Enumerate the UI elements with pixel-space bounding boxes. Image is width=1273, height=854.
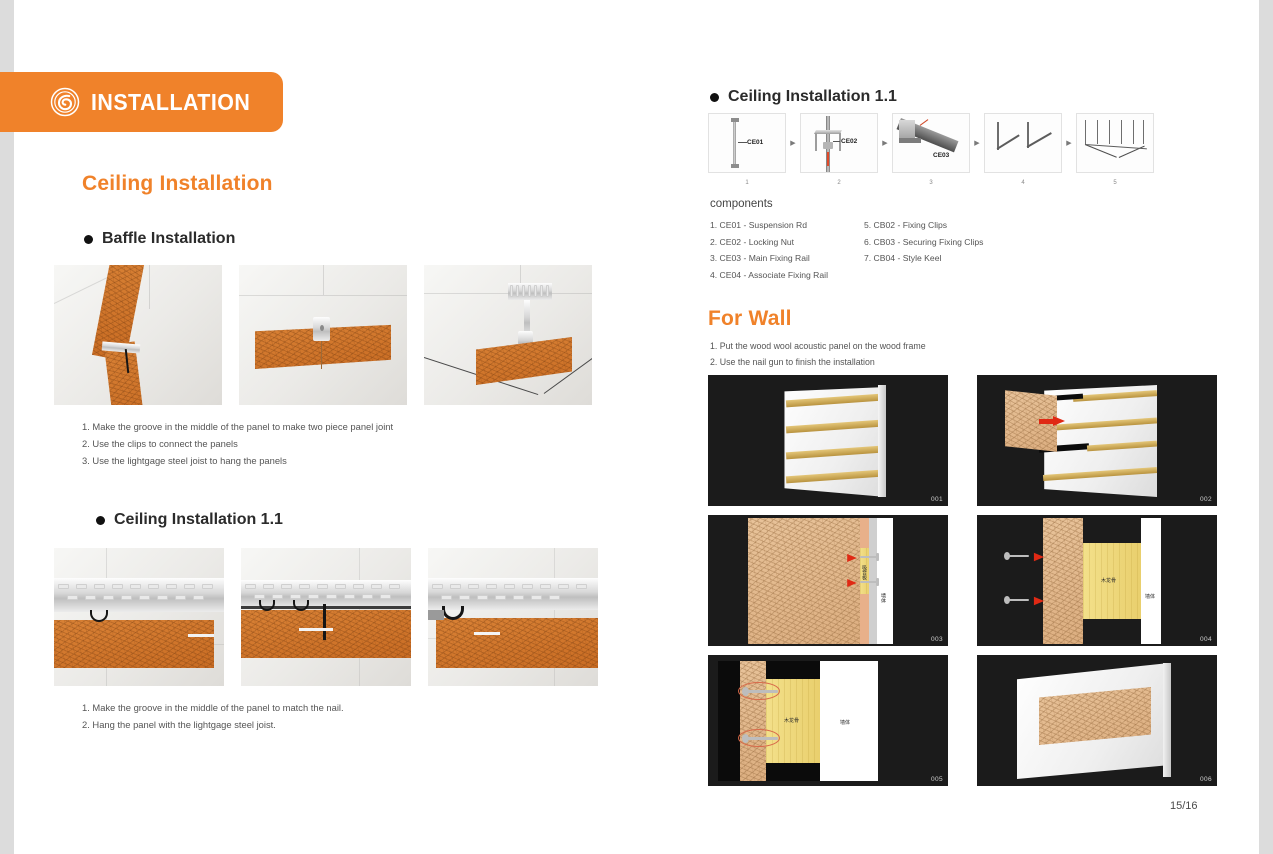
step-label-ce02: CE02 (841, 138, 857, 145)
caption-line: 3. Use the lightgage steel joist to hang… (82, 453, 393, 470)
wall-image-number: 004 (1200, 636, 1212, 643)
caption-line: 2. Hang the panel with the lightgage ste… (82, 717, 344, 734)
step-diagram-3: CE03 (892, 113, 970, 173)
step-arrow-icon: ▶ (970, 113, 984, 173)
wall-image-cn-label: 墙体 (880, 593, 887, 603)
bullet-dot-icon (96, 516, 105, 525)
step-cell-1: CE01 1 (708, 113, 786, 186)
step-diagram-2: CE02 (800, 113, 878, 173)
wall-image-001: 001 (708, 375, 948, 506)
for-wall-steps: 1. Put the wood wool acoustic panel on t… (710, 338, 926, 370)
ceiling-steps-strip: CE01 1 ▶ CE02 2 ▶ (708, 113, 1154, 186)
wall-image-grid: 001 002 (708, 375, 1217, 786)
ceiling-installation-11-heading-left: Ceiling Installation 1.1 (96, 511, 283, 529)
baffle-photo-row (54, 265, 592, 405)
wall-image-cn-label: 墙体 (1145, 593, 1155, 600)
wall-image-005: 木龙骨 墙体 005 (708, 655, 948, 786)
component-item: 3. CE03 - Main Fixing Rail (710, 250, 828, 267)
step-label-ce01: CE01 (747, 139, 763, 146)
wall-image-number: 002 (1200, 496, 1212, 503)
step-number-1: 1 (708, 180, 786, 186)
component-item: 7. CB04 - Style Keel (864, 250, 983, 267)
baffle-captions: 1. Make the groove in the middle of the … (82, 419, 393, 469)
step-number-3: 3 (892, 180, 970, 186)
wall-image-006: 006 (977, 655, 1217, 786)
caption-line: 1. Make the groove in the middle of the … (82, 700, 344, 717)
step-arrow-icon: ▶ (786, 113, 800, 173)
components-title: components (710, 198, 773, 210)
step-number-2: 2 (800, 180, 878, 186)
step-number-4: 4 (984, 180, 1062, 186)
wall-image-number: 006 (1200, 776, 1212, 783)
wall-image-004: 木龙骨 墙体 004 (977, 515, 1217, 646)
bullet-dot-icon (84, 235, 93, 244)
step-diagram-1: CE01 (708, 113, 786, 173)
wall-image-number: 003 (931, 636, 943, 643)
wall-step-line: 1. Put the wood wool acoustic panel on t… (710, 338, 926, 354)
left-column: INSTALLATION Ceiling Installation Baffle… (14, 0, 654, 854)
wall-image-number: 005 (931, 776, 943, 783)
baffle-photo-3 (424, 265, 592, 405)
baffle-photo-2 (239, 265, 407, 405)
step-arrow-icon: ▶ (878, 113, 892, 173)
page-title: Ceiling Installation (82, 172, 273, 196)
for-wall-title: For Wall (708, 307, 792, 331)
wall-image-cn-label: 木龙骨 (1101, 577, 1116, 584)
caption-line: 1. Make the groove in the middle of the … (82, 419, 393, 436)
step-arrow-icon: ▶ (1062, 113, 1076, 173)
step-label-ce03: CE03 (933, 152, 949, 159)
circular-swirl-logo-icon (50, 87, 80, 117)
wall-image-002: 002 (977, 375, 1217, 506)
components-column-left: 1. CE01 - Suspension Rd 2. CE02 - Lockin… (710, 217, 828, 283)
components-column-right: 5. CB02 - Fixing Clips 6. CB03 - Securin… (864, 217, 983, 267)
wall-image-cn-label: 吸音板 (861, 565, 868, 580)
step-diagram-5 (1076, 113, 1154, 173)
bullet-dot-icon (710, 93, 719, 102)
baffle-photo-1 (54, 265, 222, 405)
caption-line: 2. Use the clips to connect the panels (82, 436, 393, 453)
wall-image-cn-label: 墙体 (840, 719, 850, 726)
wall-image-003: 吸音板 墙体 003 (708, 515, 948, 646)
page-number: 15/16 (1170, 800, 1198, 812)
ceiling-installation-11-label: Ceiling Installation 1.1 (114, 511, 283, 529)
installation-banner: INSTALLATION (0, 72, 283, 132)
step-diagram-4 (984, 113, 1062, 173)
ceiling-photo-3 (428, 548, 598, 686)
ceiling-photo-1 (54, 548, 224, 686)
step-cell-4: 4 (984, 113, 1062, 186)
step-cell-3: CE03 3 (892, 113, 970, 186)
component-item: 2. CE02 - Locking Nut (710, 234, 828, 251)
ceiling-photo-2 (241, 548, 411, 686)
ceiling-captions: 1. Make the groove in the middle of the … (82, 700, 344, 734)
ceiling-photo-row (54, 548, 598, 686)
document-page: INSTALLATION Ceiling Installation Baffle… (14, 0, 1259, 854)
banner-title: INSTALLATION (91, 89, 250, 116)
component-item: 1. CE01 - Suspension Rd (710, 217, 828, 234)
step-cell-2: CE02 2 (800, 113, 878, 186)
step-cell-5: 5 (1076, 113, 1154, 186)
baffle-installation-heading: Baffle Installation (84, 230, 235, 248)
ceiling-installation-11-label: Ceiling Installation 1.1 (728, 88, 897, 106)
right-column: Ceiling Installation 1.1 CE01 1 ▶ (694, 0, 1259, 854)
baffle-installation-label: Baffle Installation (102, 230, 235, 248)
wall-image-cn-label: 木龙骨 (784, 717, 799, 724)
wall-image-number: 001 (931, 496, 943, 503)
ceiling-installation-11-heading-right: Ceiling Installation 1.1 (710, 88, 897, 106)
component-item: 4. CE04 - Associate Fixing Rail (710, 267, 828, 284)
wall-step-line: 2. Use the nail gun to finish the instal… (710, 354, 926, 370)
step-number-5: 5 (1076, 180, 1154, 186)
component-item: 5. CB02 - Fixing Clips (864, 217, 983, 234)
component-item: 6. CB03 - Securing Fixing Clips (864, 234, 983, 251)
